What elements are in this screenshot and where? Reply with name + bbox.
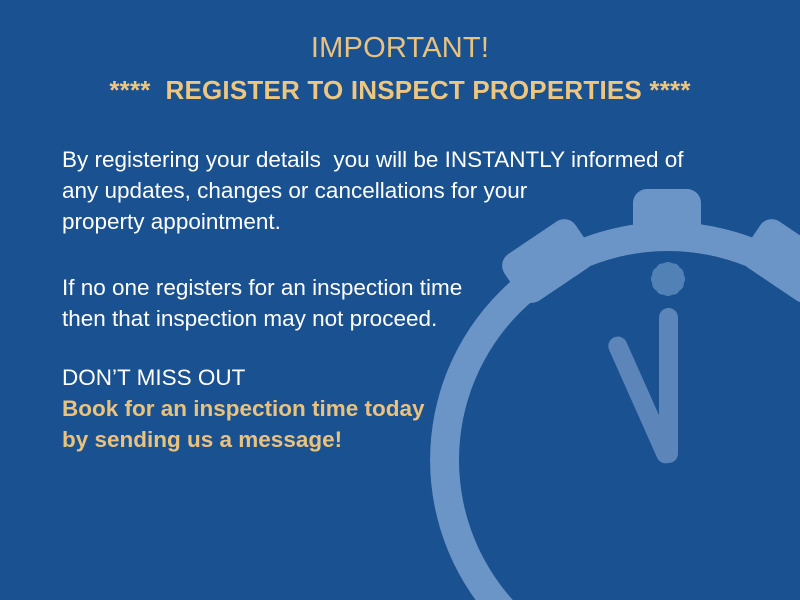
paragraph-registering-details: By registering your details you will be … bbox=[62, 144, 722, 237]
call-to-action-block: DON’T MISS OUT Book for an inspection ti… bbox=[62, 362, 722, 455]
promo-slide: IMPORTANT! **** REGISTER TO INSPECT PROP… bbox=[0, 0, 800, 600]
paragraph-2-line-1: If no one registers for an inspection ti… bbox=[62, 272, 722, 303]
page-subtitle: **** REGISTER TO INSPECT PROPERTIES **** bbox=[0, 72, 800, 108]
cta-dont-miss-out: DON’T MISS OUT bbox=[62, 362, 722, 393]
paragraph-1-line-1: By registering your details you will be … bbox=[62, 144, 722, 175]
page-title: IMPORTANT! bbox=[0, 30, 800, 66]
paragraph-1-line-2: any updates, changes or cancellations fo… bbox=[62, 175, 722, 206]
headings-group: IMPORTANT! **** REGISTER TO INSPECT PROP… bbox=[0, 30, 800, 108]
cta-book-inspection: Book for an inspection time today bbox=[62, 393, 722, 424]
paragraph-1-line-3: property appointment. bbox=[62, 206, 722, 237]
cta-send-message: by sending us a message! bbox=[62, 424, 722, 455]
paragraph-no-registration-warning: If no one registers for an inspection ti… bbox=[62, 272, 722, 334]
paragraph-2-line-2: then that inspection may not proceed. bbox=[62, 303, 722, 334]
